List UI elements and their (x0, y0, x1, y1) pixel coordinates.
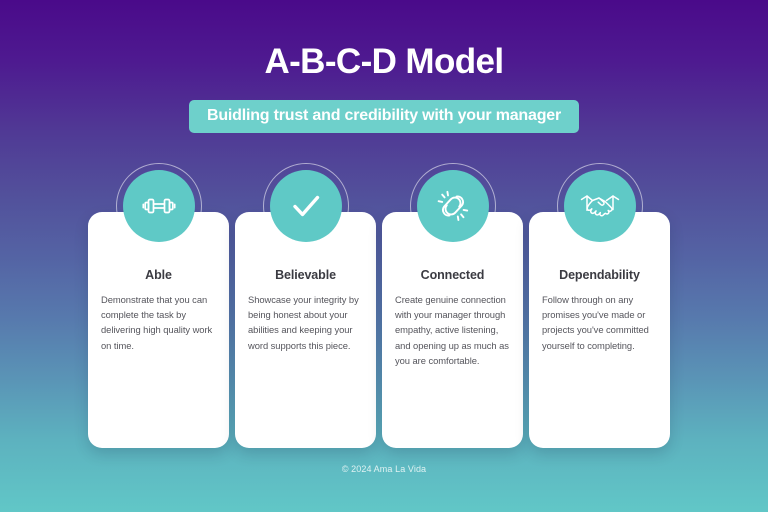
subtitle-badge-wrap: Buidling trust and credibility with your… (0, 100, 768, 133)
dumbbell-icon (123, 170, 195, 242)
card-text: Create genuine connection with your mana… (395, 292, 510, 368)
card-title: Dependability (542, 268, 657, 282)
card-body: Connected Create genuine connection with… (382, 268, 523, 368)
card-believable[interactable]: Believable Showcase your integrity by be… (235, 212, 376, 448)
card-text: Showcase your integrity by being honest … (248, 292, 363, 353)
card-text: Demonstrate that you can complete the ta… (101, 292, 216, 353)
cards-row: Able Demonstrate that you can complete t… (88, 212, 670, 448)
card-body: Able Demonstrate that you can complete t… (88, 268, 229, 353)
card-connected[interactable]: Connected Create genuine connection with… (382, 212, 523, 448)
page-title: A-B-C-D Model (0, 44, 768, 79)
header: A-B-C-D Model Buidling trust and credibi… (0, 0, 768, 133)
card-body: Believable Showcase your integrity by be… (235, 268, 376, 353)
card-body: Dependability Follow through on any prom… (529, 268, 670, 353)
card-text: Follow through on any promises you've ma… (542, 292, 657, 353)
card-title: Connected (395, 268, 510, 282)
broken-chain-link-icon (417, 170, 489, 242)
checkmark-icon (270, 170, 342, 242)
footer-copyright: © 2024 Ama La Vida (0, 464, 768, 474)
card-dependability[interactable]: Dependability Follow through on any prom… (529, 212, 670, 448)
subtitle-badge: Buidling trust and credibility with your… (189, 100, 579, 133)
handshake-icon (564, 170, 636, 242)
card-title: Able (101, 268, 216, 282)
card-title: Believable (248, 268, 363, 282)
card-able[interactable]: Able Demonstrate that you can complete t… (88, 212, 229, 448)
